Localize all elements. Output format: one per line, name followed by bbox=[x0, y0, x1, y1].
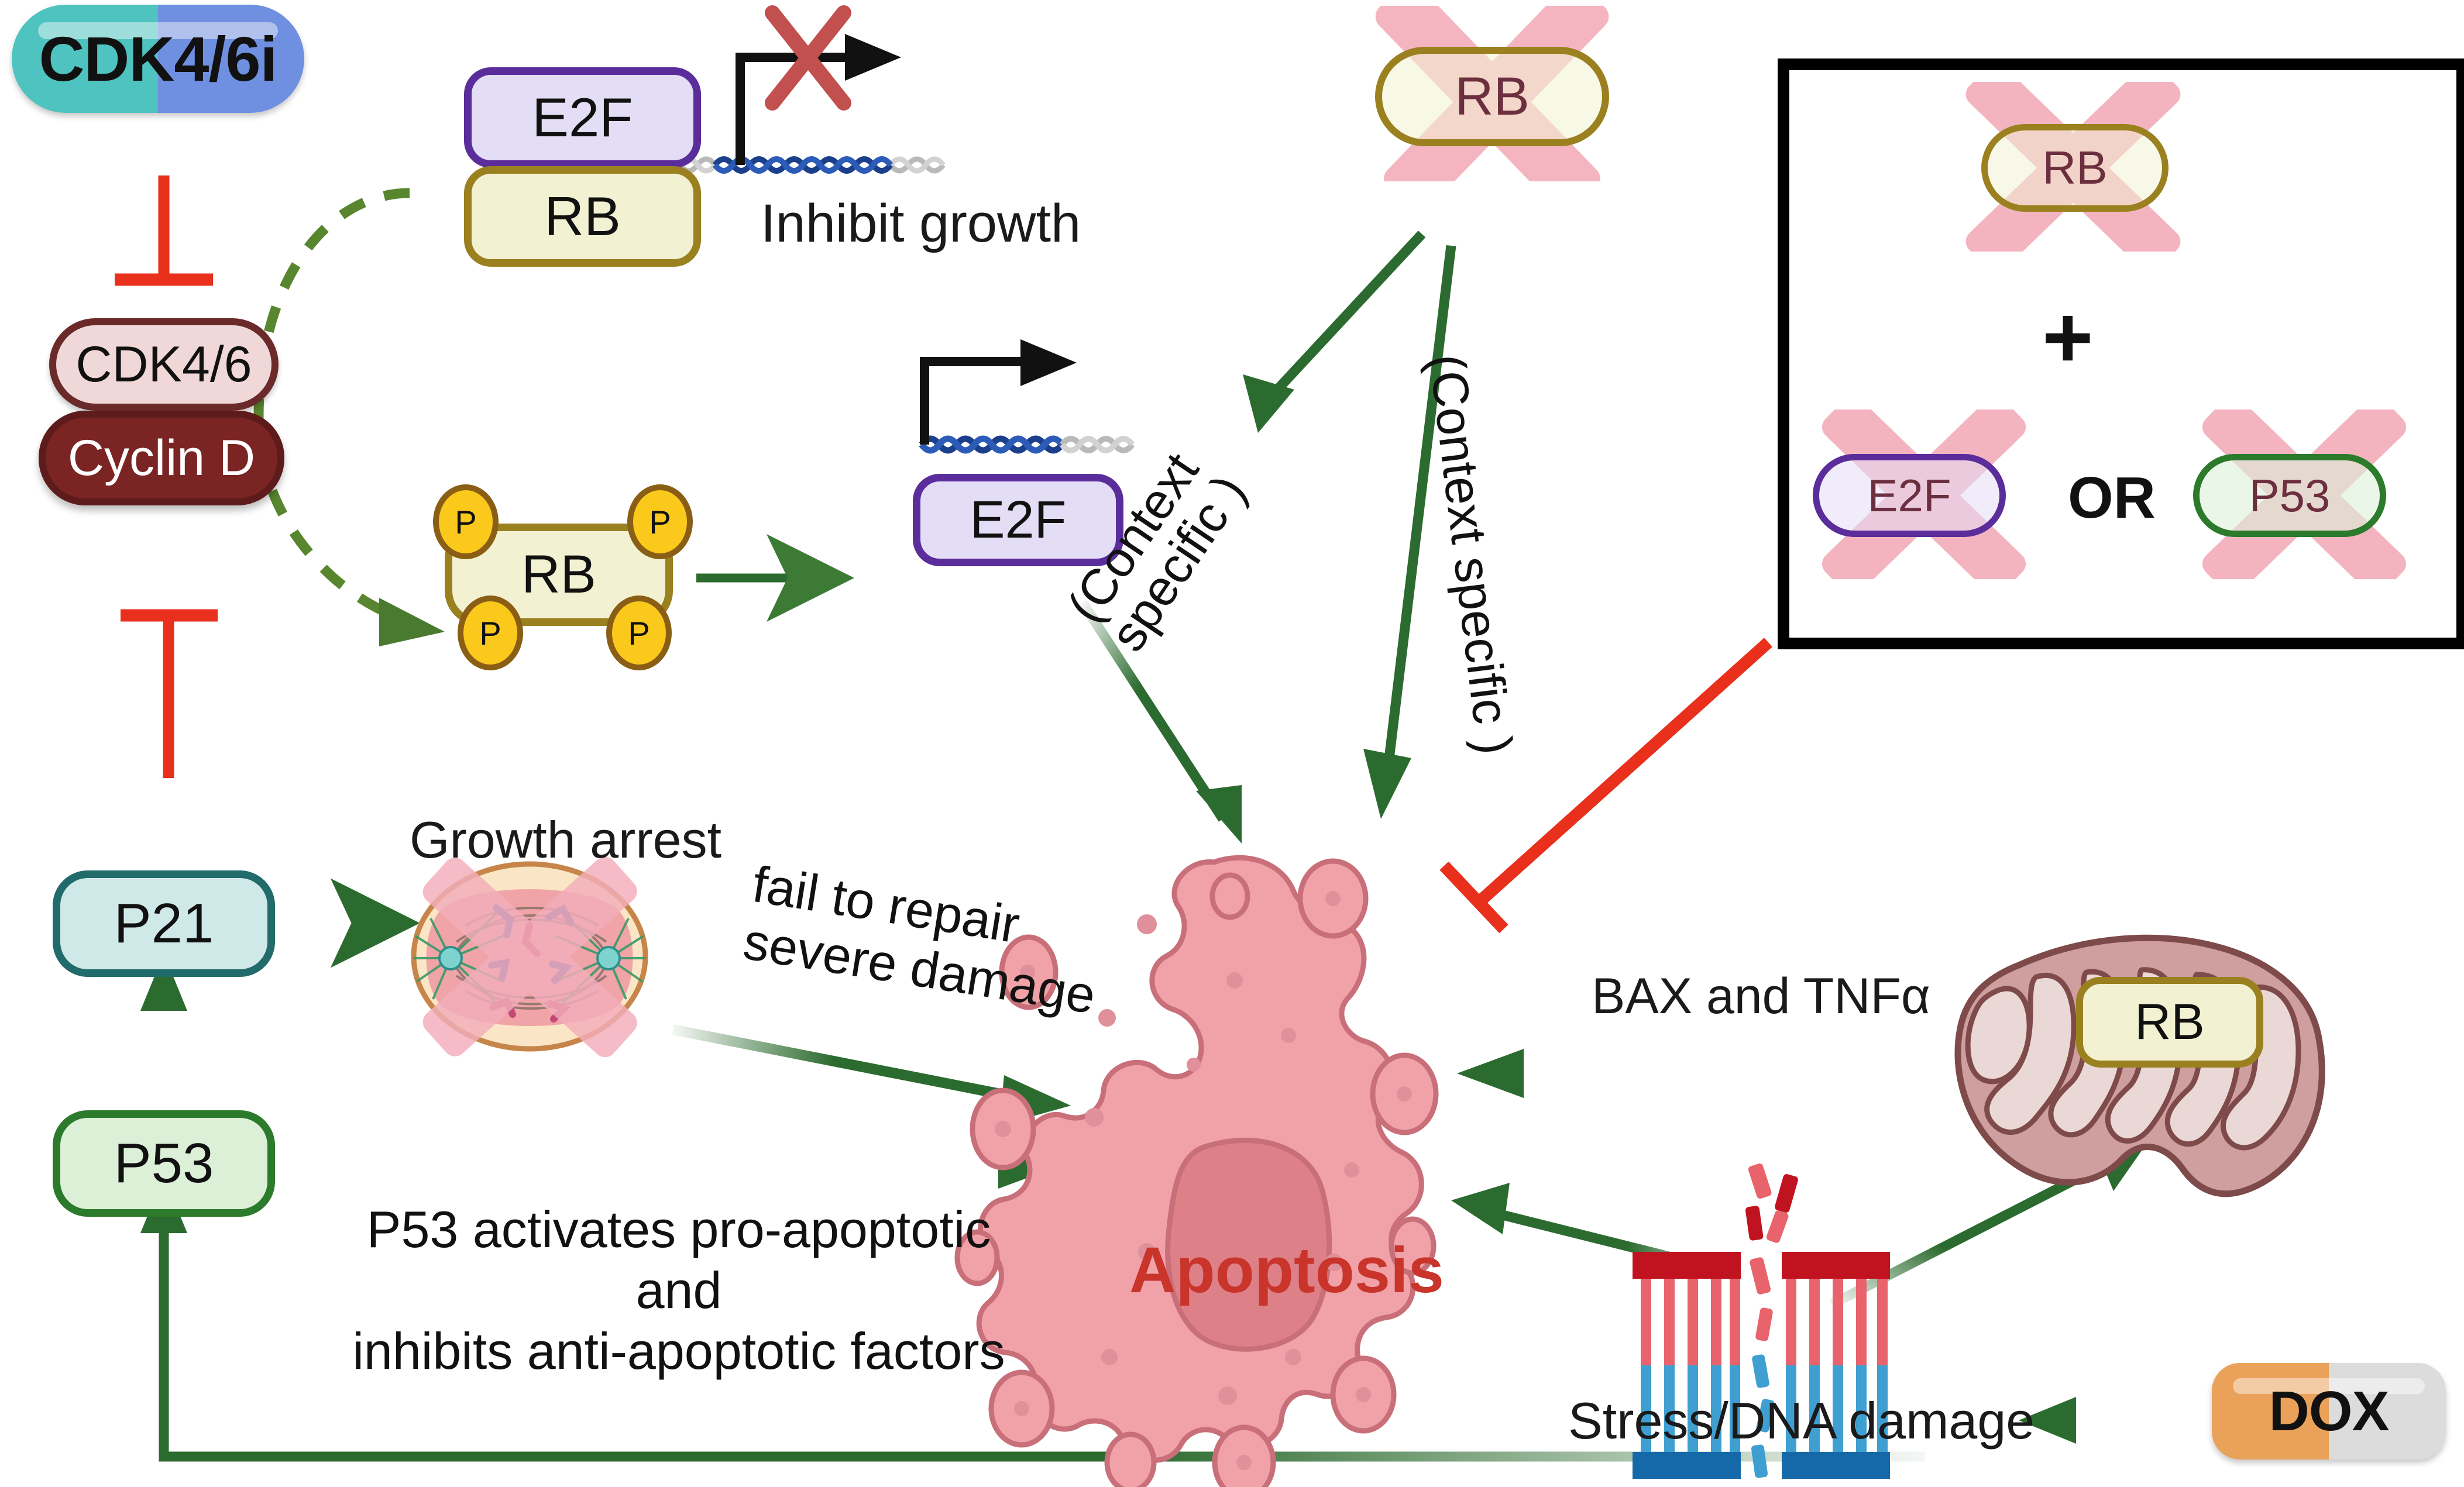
inset-e2f-node[interactable]: E2F bbox=[1813, 454, 2006, 537]
inset-rb-group: RB bbox=[1936, 82, 2211, 252]
p53-activates-label: P53 activates pro-apoptotic and inhibits… bbox=[328, 1199, 1030, 1381]
phospho-label: P bbox=[628, 614, 649, 652]
p53-node[interactable]: P53 bbox=[53, 1110, 275, 1217]
rb-mitochondria-node[interactable]: RB bbox=[2076, 977, 2263, 1068]
rb-phospho-label: RB bbox=[521, 544, 596, 605]
inset-or-label: OR bbox=[2068, 464, 2156, 532]
phospho-label: P bbox=[479, 614, 501, 652]
rb-mitochondria-label: RB bbox=[2135, 993, 2204, 1051]
inset-e2f-label: E2F bbox=[1867, 469, 1951, 522]
inhibition-cyclind-p21 bbox=[121, 614, 218, 778]
p53-activates-line1: P53 activates pro-apoptotic and bbox=[328, 1199, 1030, 1321]
tss-arrow-mid bbox=[925, 339, 1077, 445]
cdk46-label: CDK4/6 bbox=[75, 336, 252, 394]
rb-crossed-group: RB bbox=[1340, 6, 1644, 181]
blocked-transcription-x bbox=[772, 13, 844, 103]
dox-capsule[interactable]: DOX bbox=[2212, 1363, 2446, 1460]
mitotic-cell-icon bbox=[413, 852, 646, 1062]
dna-helix-mid bbox=[922, 439, 1132, 450]
tss-arrow-top bbox=[740, 34, 901, 165]
inhibition-cdk46i bbox=[115, 175, 213, 281]
e2f-top-node[interactable]: E2F bbox=[464, 67, 701, 168]
fail-to-repair-label: fail to repair severe damage bbox=[740, 855, 1108, 1025]
bax-tnfa-label: BAX and TNFα bbox=[1592, 968, 1930, 1025]
inset-rb-label: RB bbox=[2042, 141, 2107, 195]
p21-label: P21 bbox=[114, 891, 214, 956]
stress-dna-damage-label: Stress/DNA damage bbox=[1568, 1391, 2035, 1451]
phospho-group-bottom-right: P bbox=[606, 596, 672, 670]
inset-p53-node[interactable]: P53 bbox=[2193, 454, 2386, 537]
rb-top-node[interactable]: RB bbox=[464, 166, 701, 267]
inset-box: RB + E2F OR bbox=[1778, 58, 2464, 649]
inset-e2f-group: E2F bbox=[1795, 409, 2053, 579]
cdk46i-label: CDK4/6i bbox=[12, 5, 304, 113]
inset-p53-group: P53 bbox=[2176, 409, 2433, 579]
inset-plus-label: + bbox=[2042, 287, 2094, 388]
cyclind-node[interactable]: Cyclin D bbox=[39, 411, 284, 505]
context-specific-right-label: (Context specific ) bbox=[1417, 351, 1524, 758]
phospho-group-top-left: P bbox=[433, 484, 499, 559]
dna-helix-top bbox=[662, 159, 943, 171]
cdk46i-capsule[interactable]: CDK4/6i bbox=[12, 5, 304, 113]
phospho-label: P bbox=[649, 503, 671, 541]
phospho-label: P bbox=[455, 503, 476, 541]
cyclind-label: Cyclin D bbox=[68, 429, 255, 487]
inset-rb-node[interactable]: RB bbox=[1981, 124, 2169, 212]
inset-p53-label: P53 bbox=[2249, 469, 2331, 522]
rb-crossed-node[interactable]: RB bbox=[1375, 47, 1609, 146]
cdk46-node[interactable]: CDK4/6 bbox=[49, 318, 279, 411]
p53-label: P53 bbox=[114, 1131, 214, 1196]
phospho-group-top-right: P bbox=[627, 484, 693, 559]
dox-label: DOX bbox=[2212, 1363, 2446, 1460]
phospho-group-bottom-left: P bbox=[458, 596, 523, 670]
p21-node[interactable]: P21 bbox=[53, 870, 275, 977]
inhibit-growth-label: Inhibit growth bbox=[761, 193, 1081, 254]
rb-top-label: RB bbox=[544, 185, 621, 248]
rb-crossed-label: RB bbox=[1455, 66, 1530, 128]
p53-activates-line2: inhibits anti-apoptotic factors bbox=[328, 1321, 1030, 1382]
e2f-top-label: E2F bbox=[532, 86, 633, 149]
e2f-mid-label: E2F bbox=[970, 490, 1066, 550]
apoptosis-label: Apoptosis bbox=[1129, 1233, 1444, 1307]
growth-arrest-label: Growth arrest bbox=[410, 810, 721, 870]
pathway-diagram: CDK4/6i E2F RB Inhibit growth CDK4/6 Cyc… bbox=[0, 0, 2464, 1487]
